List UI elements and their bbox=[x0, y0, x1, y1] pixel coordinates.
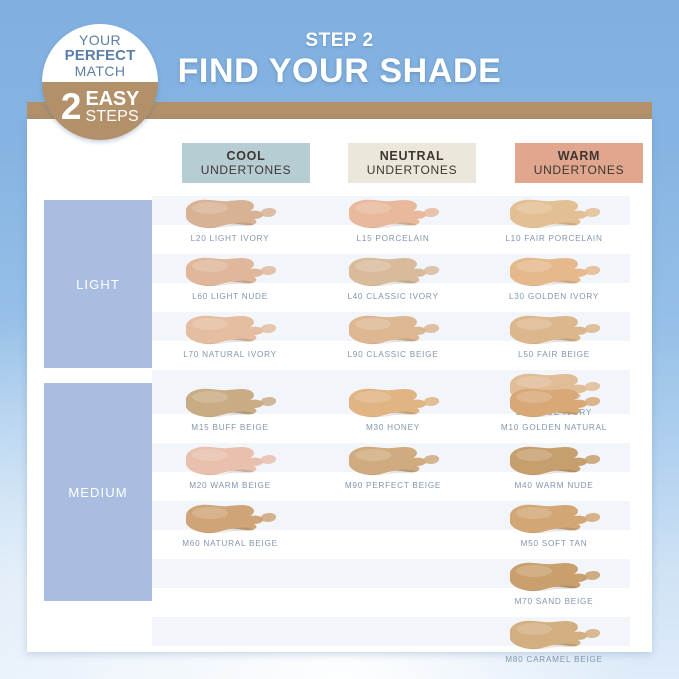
shade-swatch-graphic bbox=[180, 196, 280, 239]
shade-cell[interactable]: M90 PERFECT BEIGE bbox=[315, 443, 471, 481]
shade-swatch-graphic bbox=[180, 443, 280, 486]
shade-swatch bbox=[315, 312, 471, 350]
shade-label: L10 FAIR PORCELAIN bbox=[476, 234, 632, 243]
shade-label: M80 CARAMEL BEIGE bbox=[476, 655, 632, 664]
shade-label: L50 FAIR BEIGE bbox=[476, 350, 632, 359]
shade-swatch-icon bbox=[504, 312, 604, 350]
shade-cell[interactable]: L30 GOLDEN IVORY bbox=[476, 254, 632, 292]
shade-swatch-graphic bbox=[343, 254, 443, 297]
shade-swatch-graphic bbox=[504, 617, 604, 660]
column-header-warm-title: WARM bbox=[558, 149, 600, 164]
shade-label: L60 LIGHT NUDE bbox=[152, 292, 308, 301]
shade-swatch bbox=[152, 501, 308, 539]
badge-easy-label: EASY bbox=[85, 89, 139, 109]
badge-step-words: EASY STEPS bbox=[85, 89, 139, 125]
shade-swatch-graphic bbox=[504, 312, 604, 355]
badge-top-half: YOUR PERFECT MATCH bbox=[42, 24, 158, 82]
badge-line-perfect: PERFECT bbox=[65, 48, 136, 64]
shade-cell[interactable]: M80 CARAMEL BEIGE bbox=[476, 617, 632, 655]
shade-swatch-icon bbox=[180, 385, 280, 423]
column-header-neutral: NEUTRAL UNDERTONES bbox=[348, 143, 476, 183]
shade-swatch bbox=[476, 617, 632, 655]
shade-swatch-graphic bbox=[504, 254, 604, 297]
shade-swatch-icon bbox=[180, 312, 280, 350]
shade-swatch-graphic bbox=[504, 385, 604, 428]
shade-swatch-graphic bbox=[343, 196, 443, 239]
tone-block-medium: MEDIUM bbox=[44, 383, 152, 601]
shade-swatch-icon bbox=[343, 443, 443, 481]
column-header-warm-subtitle: UNDERTONES bbox=[534, 163, 625, 177]
shade-cell[interactable]: L10 FAIR PORCELAIN bbox=[476, 196, 632, 234]
shade-swatch-icon bbox=[343, 254, 443, 292]
shade-cell[interactable]: L20 LIGHT IVORY bbox=[152, 196, 308, 234]
column-header-neutral-title: NEUTRAL bbox=[380, 149, 445, 164]
shade-cell[interactable]: L70 NATURAL IVORY bbox=[152, 312, 308, 350]
shade-label: L15 PORCELAIN bbox=[315, 234, 471, 243]
shade-swatch bbox=[476, 254, 632, 292]
shade-swatch bbox=[315, 254, 471, 292]
badge-steps-label: STEPS bbox=[85, 109, 139, 125]
column-header-neutral-subtitle: UNDERTONES bbox=[367, 163, 458, 177]
shade-cell[interactable]: L50 FAIR BEIGE bbox=[476, 312, 632, 350]
shade-swatch-graphic bbox=[504, 501, 604, 544]
shade-label: L70 NATURAL IVORY bbox=[152, 350, 308, 359]
shade-swatch bbox=[315, 385, 471, 423]
shade-cell[interactable]: M70 SAND BEIGE bbox=[476, 559, 632, 597]
column-header-cool-title: COOL bbox=[227, 149, 266, 164]
shade-swatch-graphic bbox=[504, 443, 604, 486]
shade-swatch-icon bbox=[504, 443, 604, 481]
shade-label: M15 BUFF BEIGE bbox=[152, 423, 308, 432]
shade-swatch-icon bbox=[343, 312, 443, 350]
shade-cell[interactable]: L15 PORCELAIN bbox=[315, 196, 471, 234]
badge-bottom-half: 2 EASY STEPS bbox=[42, 82, 158, 140]
column-header-warm: WARM UNDERTONES bbox=[515, 143, 643, 183]
shade-swatch-graphic bbox=[343, 312, 443, 355]
shade-cell[interactable]: M40 WARM NUDE bbox=[476, 443, 632, 481]
shade-cell[interactable]: M60 NATURAL BEIGE bbox=[152, 501, 308, 539]
shade-label: M40 WARM NUDE bbox=[476, 481, 632, 490]
shade-label: M30 HONEY bbox=[315, 423, 471, 432]
shade-cell[interactable]: L40 CLASSIC IVORY bbox=[315, 254, 471, 292]
shade-swatch bbox=[152, 196, 308, 234]
shade-swatch-graphic bbox=[343, 385, 443, 428]
shade-cell[interactable]: L90 CLASSIC BEIGE bbox=[315, 312, 471, 350]
shade-swatch bbox=[152, 443, 308, 481]
shade-swatch-icon bbox=[504, 559, 604, 597]
shade-swatch bbox=[476, 312, 632, 350]
shade-cell[interactable]: M10 GOLDEN NATURAL bbox=[476, 385, 632, 423]
shade-swatch-icon bbox=[180, 254, 280, 292]
shade-label: M20 WARM BEIGE bbox=[152, 481, 308, 490]
shade-cell[interactable]: M50 SOFT TAN bbox=[476, 501, 632, 539]
shade-swatch bbox=[476, 196, 632, 234]
shade-cell[interactable]: L60 LIGHT NUDE bbox=[152, 254, 308, 292]
shade-swatch-icon bbox=[180, 196, 280, 234]
shade-swatch-graphic bbox=[504, 559, 604, 602]
shade-swatch-graphic bbox=[343, 443, 443, 486]
shade-swatch-graphic bbox=[180, 312, 280, 355]
shade-swatch-graphic bbox=[504, 196, 604, 239]
shade-cell[interactable]: M15 BUFF BEIGE bbox=[152, 385, 308, 423]
shade-swatch-icon bbox=[504, 254, 604, 292]
shade-swatch bbox=[152, 254, 308, 292]
shade-swatch bbox=[315, 196, 471, 234]
shade-label: M90 PERFECT BEIGE bbox=[315, 481, 471, 490]
shade-label: L20 LIGHT IVORY bbox=[152, 234, 308, 243]
shade-swatch-icon bbox=[504, 196, 604, 234]
shade-swatch-graphic bbox=[180, 385, 280, 428]
shade-swatch-icon bbox=[180, 443, 280, 481]
shade-swatch bbox=[476, 385, 632, 423]
shade-swatch-graphic bbox=[180, 254, 280, 297]
shade-swatch bbox=[476, 501, 632, 539]
shade-label: M70 SAND BEIGE bbox=[476, 597, 632, 606]
tone-label-medium: MEDIUM bbox=[68, 485, 127, 500]
shade-swatch bbox=[476, 559, 632, 597]
badge-line-match: MATCH bbox=[75, 64, 126, 79]
badge-line-your: YOUR bbox=[79, 33, 121, 48]
shade-label: L40 CLASSIC IVORY bbox=[315, 292, 471, 301]
shade-label: M10 GOLDEN NATURAL bbox=[476, 423, 632, 432]
column-header-cool: COOL UNDERTONES bbox=[182, 143, 310, 183]
shade-label: M50 SOFT TAN bbox=[476, 539, 632, 548]
shade-swatch-icon bbox=[504, 501, 604, 539]
shade-label: L30 GOLDEN IVORY bbox=[476, 292, 632, 301]
shade-label: L90 CLASSIC BEIGE bbox=[315, 350, 471, 359]
tone-block-light: LIGHT bbox=[44, 200, 152, 368]
shade-swatch-graphic bbox=[180, 501, 280, 544]
tone-label-light: LIGHT bbox=[76, 277, 120, 292]
shade-swatch bbox=[152, 312, 308, 350]
badge-step-number: 2 bbox=[61, 90, 82, 123]
shade-swatch bbox=[152, 385, 308, 423]
column-header-cool-subtitle: UNDERTONES bbox=[201, 163, 292, 177]
shade-swatch-icon bbox=[504, 617, 604, 655]
shade-swatch-icon bbox=[180, 501, 280, 539]
shade-swatch-icon bbox=[504, 385, 604, 423]
shade-cell[interactable]: M20 WARM BEIGE bbox=[152, 443, 308, 481]
shade-swatch bbox=[315, 443, 471, 481]
perfect-match-badge: YOUR PERFECT MATCH 2 EASY STEPS bbox=[42, 24, 158, 140]
shade-swatch-icon bbox=[343, 385, 443, 423]
shade-swatch-icon bbox=[343, 196, 443, 234]
shade-cell[interactable]: M30 HONEY bbox=[315, 385, 471, 423]
shade-label: M60 NATURAL BEIGE bbox=[152, 539, 308, 548]
shade-swatch bbox=[476, 443, 632, 481]
